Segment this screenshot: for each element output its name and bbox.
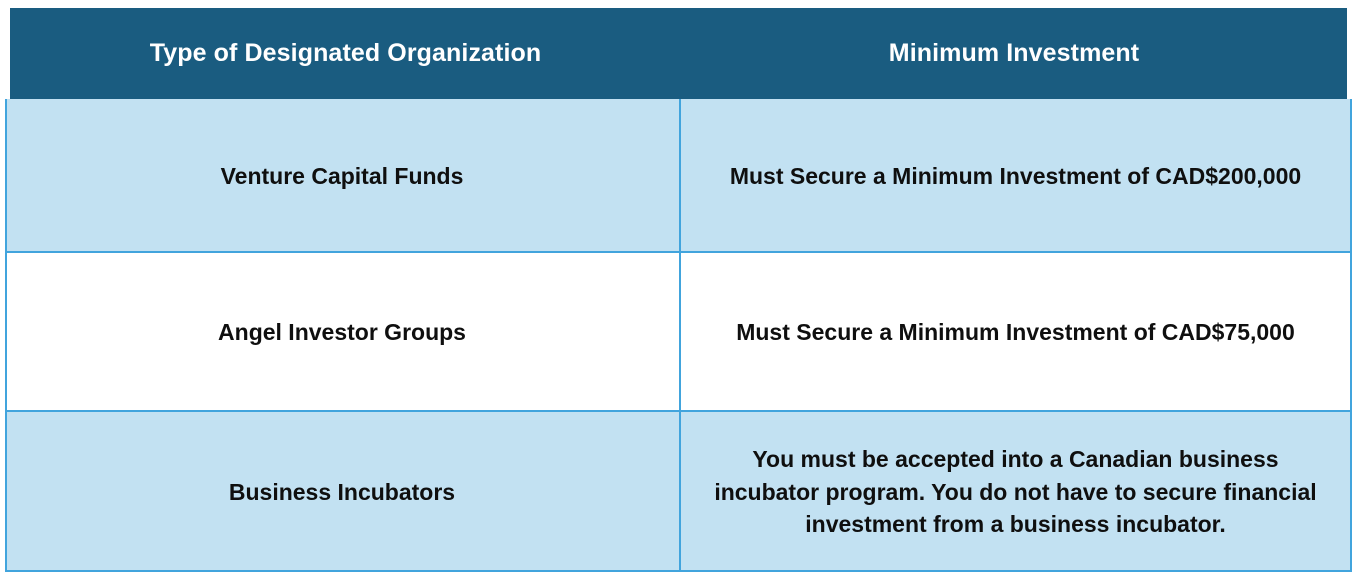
column-header-label: Minimum Investment bbox=[889, 39, 1139, 68]
column-header-label: Type of Designated Organization bbox=[150, 39, 542, 68]
table-row: Business Incubators You must be accepted… bbox=[5, 412, 1352, 572]
investment-label: You must be accepted into a Canadian bus… bbox=[703, 443, 1328, 541]
investment-label: Must Secure a Minimum Investment of CAD$… bbox=[736, 316, 1295, 349]
designated-organization-table: Type of Designated Organization Minimum … bbox=[0, 0, 1360, 580]
organization-label: Venture Capital Funds bbox=[221, 163, 464, 190]
cell-organization-type: Business Incubators bbox=[5, 412, 681, 572]
table-row: Venture Capital Funds Must Secure a Mini… bbox=[5, 99, 1352, 253]
cell-organization-type: Angel Investor Groups bbox=[5, 253, 681, 412]
organization-label: Angel Investor Groups bbox=[218, 319, 466, 346]
column-header-type-of-designated-organization: Type of Designated Organization bbox=[10, 8, 681, 99]
table-header-row: Type of Designated Organization Minimum … bbox=[10, 8, 1347, 99]
investment-label: Must Secure a Minimum Investment of CAD$… bbox=[730, 160, 1301, 193]
organization-label: Business Incubators bbox=[229, 479, 455, 506]
table-row: Angel Investor Groups Must Secure a Mini… bbox=[5, 253, 1352, 412]
column-header-minimum-investment: Minimum Investment bbox=[681, 8, 1347, 99]
cell-minimum-investment: You must be accepted into a Canadian bus… bbox=[681, 412, 1352, 572]
cell-organization-type: Venture Capital Funds bbox=[5, 99, 681, 253]
cell-minimum-investment: Must Secure a Minimum Investment of CAD$… bbox=[681, 99, 1352, 253]
table-body: Venture Capital Funds Must Secure a Mini… bbox=[5, 99, 1352, 573]
cell-minimum-investment: Must Secure a Minimum Investment of CAD$… bbox=[681, 253, 1352, 412]
